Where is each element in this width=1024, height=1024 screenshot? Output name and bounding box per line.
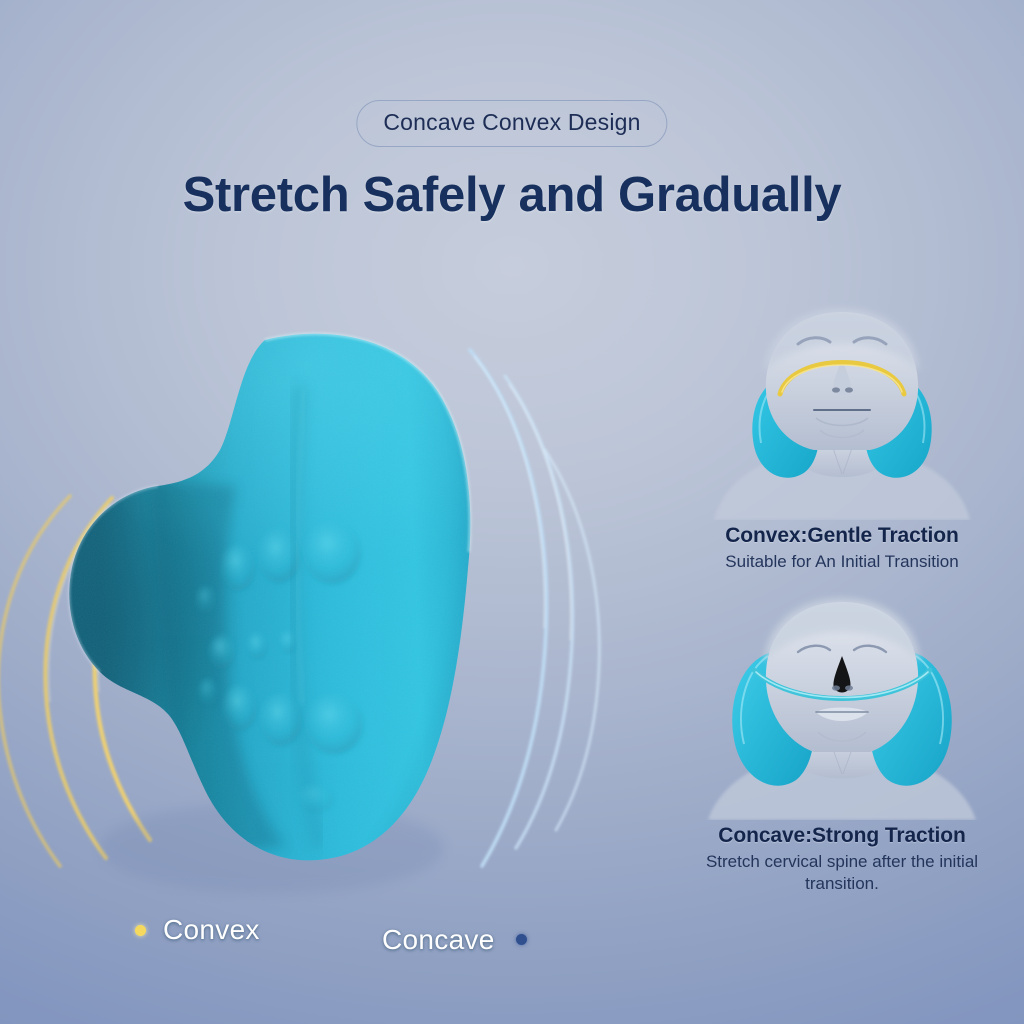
panel-concave-subtitle: Stretch cervical spine after the initial… xyxy=(672,851,1012,895)
concave-label: Concave xyxy=(382,924,495,956)
panel-convex-title: Convex:Gentle Traction xyxy=(672,524,1012,548)
panel-convex: Convex:Gentle Traction Suitable for An I… xyxy=(672,298,1012,573)
design-badge: Concave Convex Design xyxy=(356,100,667,147)
concave-traction-illustration xyxy=(692,592,992,820)
right-wave-highlight xyxy=(474,356,571,640)
convex-marker-dot xyxy=(135,925,146,936)
infographic-canvas: Concave Convex Design Stretch Safely and… xyxy=(0,0,1024,1024)
concave-marker-dot xyxy=(516,934,527,945)
convex-label: Convex xyxy=(163,914,260,946)
convex-traction-illustration xyxy=(692,298,992,520)
panel-concave-title: Concave:Strong Traction xyxy=(672,824,1012,848)
page-title: Stretch Safely and Gradually xyxy=(183,167,842,223)
panel-convex-subtitle: Suitable for An Initial Transition xyxy=(672,551,1012,573)
panel-concave: Concave:Strong Traction Stretch cervical… xyxy=(672,592,1012,895)
product-illustration: Convex Concave xyxy=(0,300,690,940)
right-wave-arcs xyxy=(470,350,599,866)
